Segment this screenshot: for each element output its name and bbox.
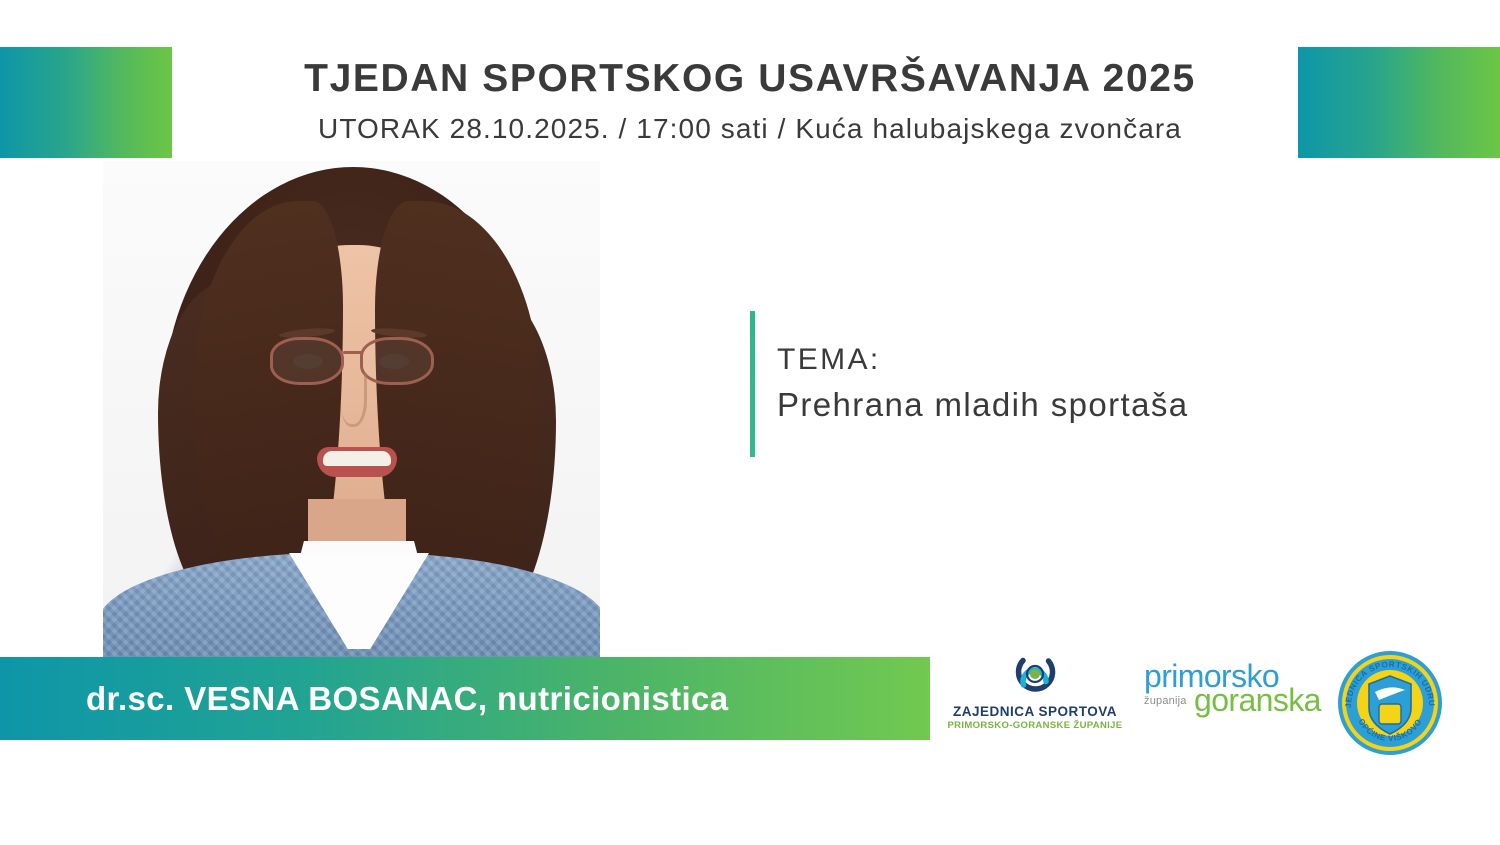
circular-swirl-icon [1007, 652, 1063, 700]
event-poster: TJEDAN SPORTSKOG USAVRŠAVANJA 2025 UTORA… [0, 0, 1500, 845]
logo-zs-name: ZAJEDNICA SPORTOVA [945, 704, 1125, 720]
speaker-name: dr.sc. VESNA BOSANAC, nutricionistica [86, 680, 729, 718]
event-datetime-location: UTORAK 28.10.2025. / 17:00 sati / Kuća h… [0, 112, 1500, 146]
logo-pgz-line2: goranska [1194, 684, 1321, 716]
topic-accent-bar [750, 311, 755, 457]
nose-shape [341, 373, 367, 427]
speaker-photo [103, 161, 600, 658]
poster-header: TJEDAN SPORTSKOG USAVRŠAVANJA 2025 UTORA… [0, 56, 1500, 146]
topic-block: TEMA: Prehrana mladih sportaša [777, 338, 1188, 428]
teeth-shape [323, 451, 391, 466]
page-title: TJEDAN SPORTSKOG USAVRŠAVANJA 2025 [0, 56, 1500, 102]
sponsor-logos: ZAJEDNICA SPORTOVA PRIMORSKO-GORANSKE ŽU… [940, 648, 1480, 758]
glasses-lens-left [270, 337, 344, 385]
crest-shield-icon: ZAJEDNICA SPORTSKIH UDRUGA OPĆINE VIŠKOV… [1335, 648, 1445, 758]
logo-primorsko-goranska[interactable]: primorsko županija goranska [1136, 658, 1311, 736]
glasses-lens-right [360, 337, 434, 385]
topic-value: Prehrana mladih sportaša [777, 382, 1188, 428]
photo-background [103, 161, 600, 658]
logo-pgz-small: županija [1144, 696, 1187, 707]
logo-zajednica-sportova[interactable]: ZAJEDNICA SPORTOVA PRIMORSKO-GORANSKE ŽU… [945, 652, 1125, 733]
logo-zs-subtitle: PRIMORSKO-GORANSKE ŽUPANIJE [945, 720, 1125, 732]
speaker-name-banner: dr.sc. VESNA BOSANAC, nutricionistica [0, 657, 930, 740]
topic-label: TEMA: [777, 338, 1188, 382]
mouth-shape [317, 447, 397, 477]
logo-viskovo[interactable]: ZAJEDNICA SPORTSKIH UDRUGA OPĆINE VIŠKOV… [1335, 648, 1445, 758]
glasses-bridge [343, 351, 362, 354]
